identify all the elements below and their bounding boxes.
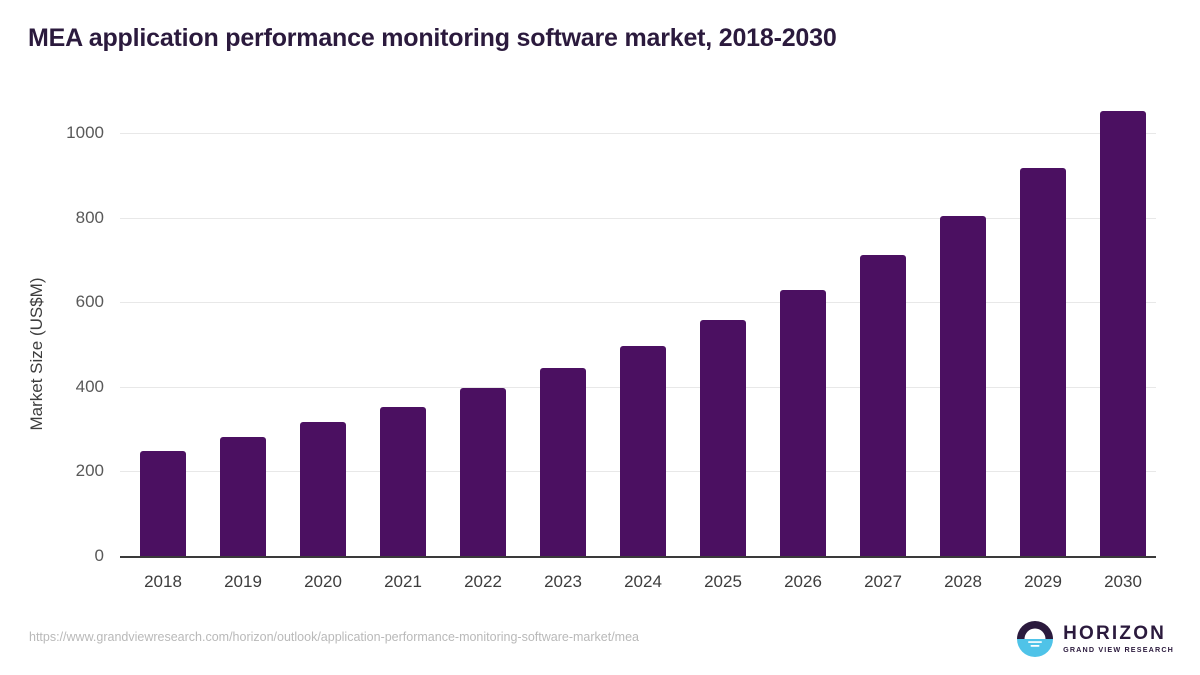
x-tick-label: 2018: [123, 572, 203, 592]
gridline: [120, 133, 1156, 134]
bar-2023[interactable]: [540, 368, 586, 556]
y-tick-label: 800: [76, 208, 104, 228]
bar-2030[interactable]: [1100, 111, 1146, 556]
bar-2026[interactable]: [780, 290, 826, 556]
x-tick-label: 2029: [1003, 572, 1083, 592]
x-axis-line: [120, 556, 1156, 558]
y-tick-label: 1000: [66, 123, 104, 143]
chart-figure: MEA application performance monitoring s…: [0, 0, 1200, 675]
bar-2025[interactable]: [700, 320, 746, 556]
y-tick-label: 400: [76, 377, 104, 397]
y-tick-label: 600: [76, 292, 104, 312]
bar-2029[interactable]: [1020, 168, 1066, 556]
x-tick-label: 2027: [843, 572, 923, 592]
horizon-logo-name: HORIZON: [1063, 624, 1174, 643]
horizon-logo-tagline: GRAND VIEW RESEARCH: [1063, 646, 1174, 653]
bar-2028[interactable]: [940, 216, 986, 556]
x-tick-label: 2021: [363, 572, 443, 592]
bar-2027[interactable]: [860, 255, 906, 556]
gridline: [120, 218, 1156, 219]
x-tick-label: 2022: [443, 572, 523, 592]
x-tick-label: 2024: [603, 572, 683, 592]
y-tick-label: 0: [95, 546, 104, 566]
bar-2022[interactable]: [460, 388, 506, 556]
source-url[interactable]: https://www.grandviewresearch.com/horizo…: [29, 630, 639, 644]
plot-area: [120, 100, 1156, 556]
y-tick-label: 200: [76, 461, 104, 481]
bar-2020[interactable]: [300, 422, 346, 556]
x-tick-label: 2025: [683, 572, 763, 592]
bar-2024[interactable]: [620, 346, 666, 556]
x-tick-label: 2030: [1083, 572, 1163, 592]
bar-2021[interactable]: [380, 407, 426, 556]
y-axis: Market Size (US$M) 02004006008001000: [0, 0, 104, 675]
x-tick-label: 2026: [763, 572, 843, 592]
x-tick-label: 2023: [523, 572, 603, 592]
horizon-logo: HORIZON GRAND VIEW RESEARCH: [1016, 618, 1174, 660]
x-tick-label: 2019: [203, 572, 283, 592]
y-axis-label: Market Size (US$M): [27, 224, 47, 484]
horizon-logo-text: HORIZON GRAND VIEW RESEARCH: [1063, 624, 1174, 653]
chart-title: MEA application performance monitoring s…: [28, 24, 837, 53]
bar-2018[interactable]: [140, 451, 186, 556]
bar-2019[interactable]: [220, 437, 266, 556]
horizon-logo-icon: [1016, 620, 1054, 658]
x-tick-label: 2028: [923, 572, 1003, 592]
gridline: [120, 302, 1156, 303]
x-tick-label: 2020: [283, 572, 363, 592]
